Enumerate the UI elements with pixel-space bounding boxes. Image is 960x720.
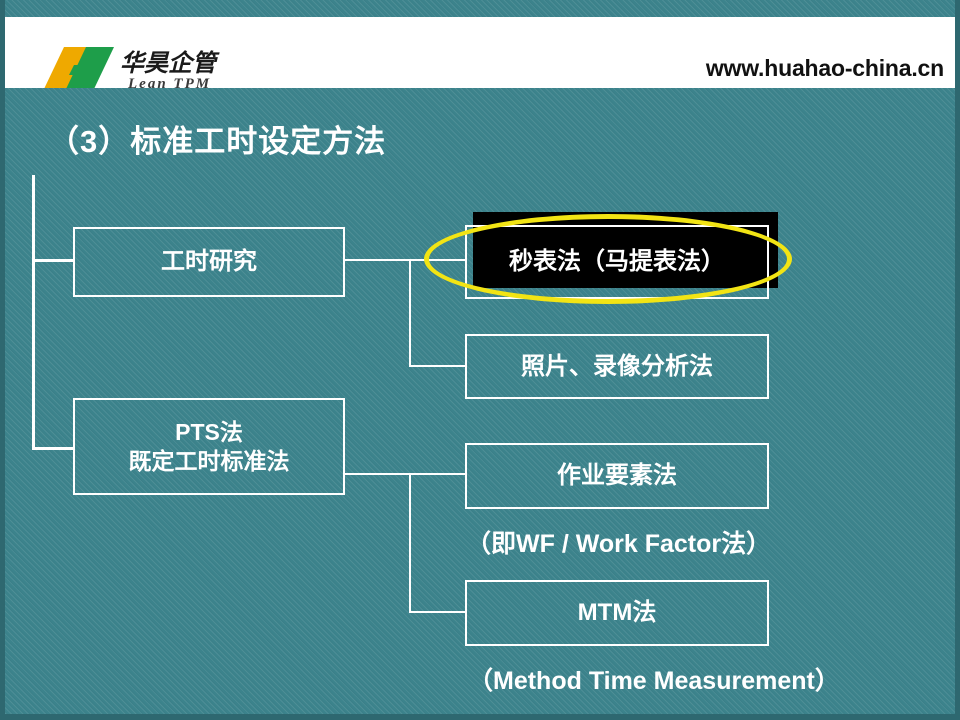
caption-method-time-measurement: （Method Time Measurement） [468, 661, 840, 697]
node-pts[interactable]: PTS法 既定工时标准法 [73, 398, 345, 495]
frame-edge-left [0, 0, 5, 720]
connector-pts-out [345, 473, 467, 475]
connector-left-vertical [32, 175, 35, 450]
svg-text:华昊企管: 华昊企管 [120, 49, 220, 77]
connector-photo-in [409, 365, 467, 367]
caption-work-factor: （即WF / Work Factor法） [466, 524, 771, 560]
connector-left-stub-bottom [32, 447, 75, 450]
connector-left-stub-top [32, 259, 75, 262]
node-mtm-method[interactable]: MTM法 [465, 580, 769, 646]
node-work-element-method[interactable]: 作业要素法 [465, 443, 769, 509]
header-band: 华昊企管 Lean TPM www.huahao-china.cn [0, 17, 960, 88]
top-stripe-band [0, 0, 960, 17]
website-url[interactable]: www.huahao-china.cn [706, 55, 944, 82]
node-time-study[interactable]: 工时研究 [73, 227, 345, 297]
page-title: （3）标准工时设定方法 [48, 116, 386, 161]
frame-edge-right [955, 0, 960, 720]
connector-timestudy-out [345, 259, 467, 261]
slide-canvas: 华昊企管 Lean TPM www.huahao-china.cn （3）标准工… [0, 0, 960, 720]
node-stopwatch-method[interactable]: 秒表法（马提表法） [465, 225, 769, 299]
connector-pts-vertical [409, 473, 411, 613]
connector-timestudy-vertical [409, 259, 411, 367]
frame-edge-bottom [0, 714, 960, 720]
connector-mtm-in [409, 611, 467, 613]
node-photo-video-analysis[interactable]: 照片、录像分析法 [465, 334, 769, 399]
